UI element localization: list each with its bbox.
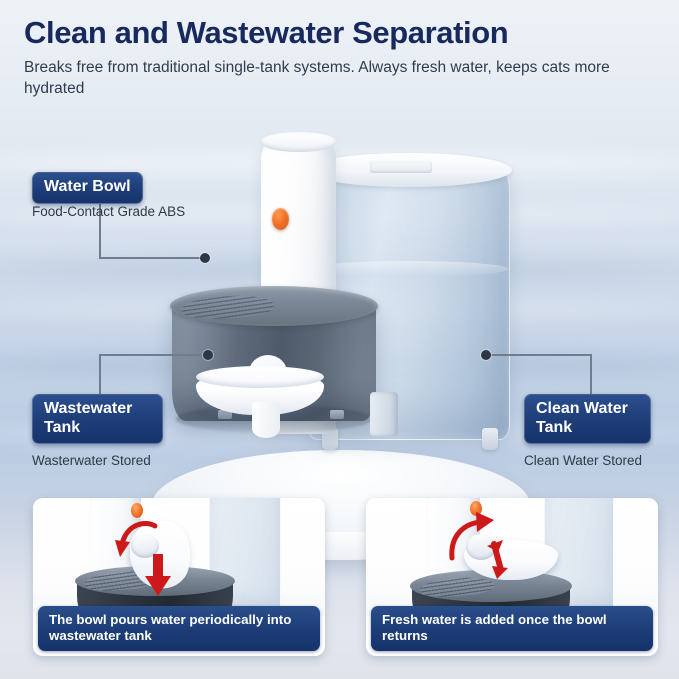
callout-badge-wastewater-tank: Wastewater Tank: [32, 394, 163, 444]
callout-sublabel-clean-water-tank: Clean Water Stored: [524, 453, 642, 468]
callout-badge-water-bowl: Water Bowl: [32, 172, 143, 204]
callout-sublabel-wastewater-tank: Wasterwater Stored: [32, 453, 151, 468]
infographic-page: Clean and Wastewater Separation Breaks f…: [0, 0, 679, 679]
leader-dot-clean-water: [481, 350, 491, 360]
tank-connector-pipe: [370, 392, 398, 436]
bottom-panels: The bowl pours water periodically into w…: [0, 498, 679, 658]
panel-refill-caption: Fresh water is added once the bowl retur…: [371, 606, 653, 651]
panel-pour-photo: [33, 498, 325, 616]
leader-line-water-bowl-horizontal: [99, 257, 204, 259]
dispenser-tower-top: [260, 132, 337, 152]
leader-line-clean-water-vertical: [590, 354, 592, 396]
panel-refill: Fresh water is added once the bowl retur…: [366, 498, 658, 656]
panel-pour: The bowl pours water periodically into w…: [33, 498, 325, 656]
panel-refill-photo: [366, 498, 658, 616]
water-bowl-stem: [252, 402, 280, 438]
clean-water-tank-handle: [370, 161, 432, 173]
header: Clean and Wastewater Separation Breaks f…: [0, 0, 679, 99]
power-button-icon[interactable]: [272, 208, 289, 230]
leader-dot-wastewater: [203, 350, 213, 360]
clean-water-tank-foot-right: [482, 428, 498, 450]
wastewater-tank-tab-right: [330, 410, 344, 419]
pour-down-arrow-icon: [143, 554, 173, 598]
leader-line-clean-water-horizontal: [487, 354, 591, 356]
callout-sublabel-water-bowl: Food-Contact Grade ABS: [32, 204, 185, 219]
leader-dot-water-bowl: [200, 253, 210, 263]
callout-badge-clean-water-tank: Clean Water Tank: [524, 394, 651, 444]
water-bowl-rim: [196, 366, 324, 388]
page-title: Clean and Wastewater Separation: [24, 16, 657, 49]
leader-line-wastewater-horizontal: [99, 354, 207, 356]
leader-line-wastewater-vertical: [99, 354, 101, 396]
page-subtitle: Breaks free from traditional single-tank…: [24, 58, 657, 99]
water-flow-arrow-icon: [480, 536, 514, 580]
clean-water-level-line: [309, 261, 508, 277]
panel-pour-caption: The bowl pours water periodically into w…: [38, 606, 320, 651]
